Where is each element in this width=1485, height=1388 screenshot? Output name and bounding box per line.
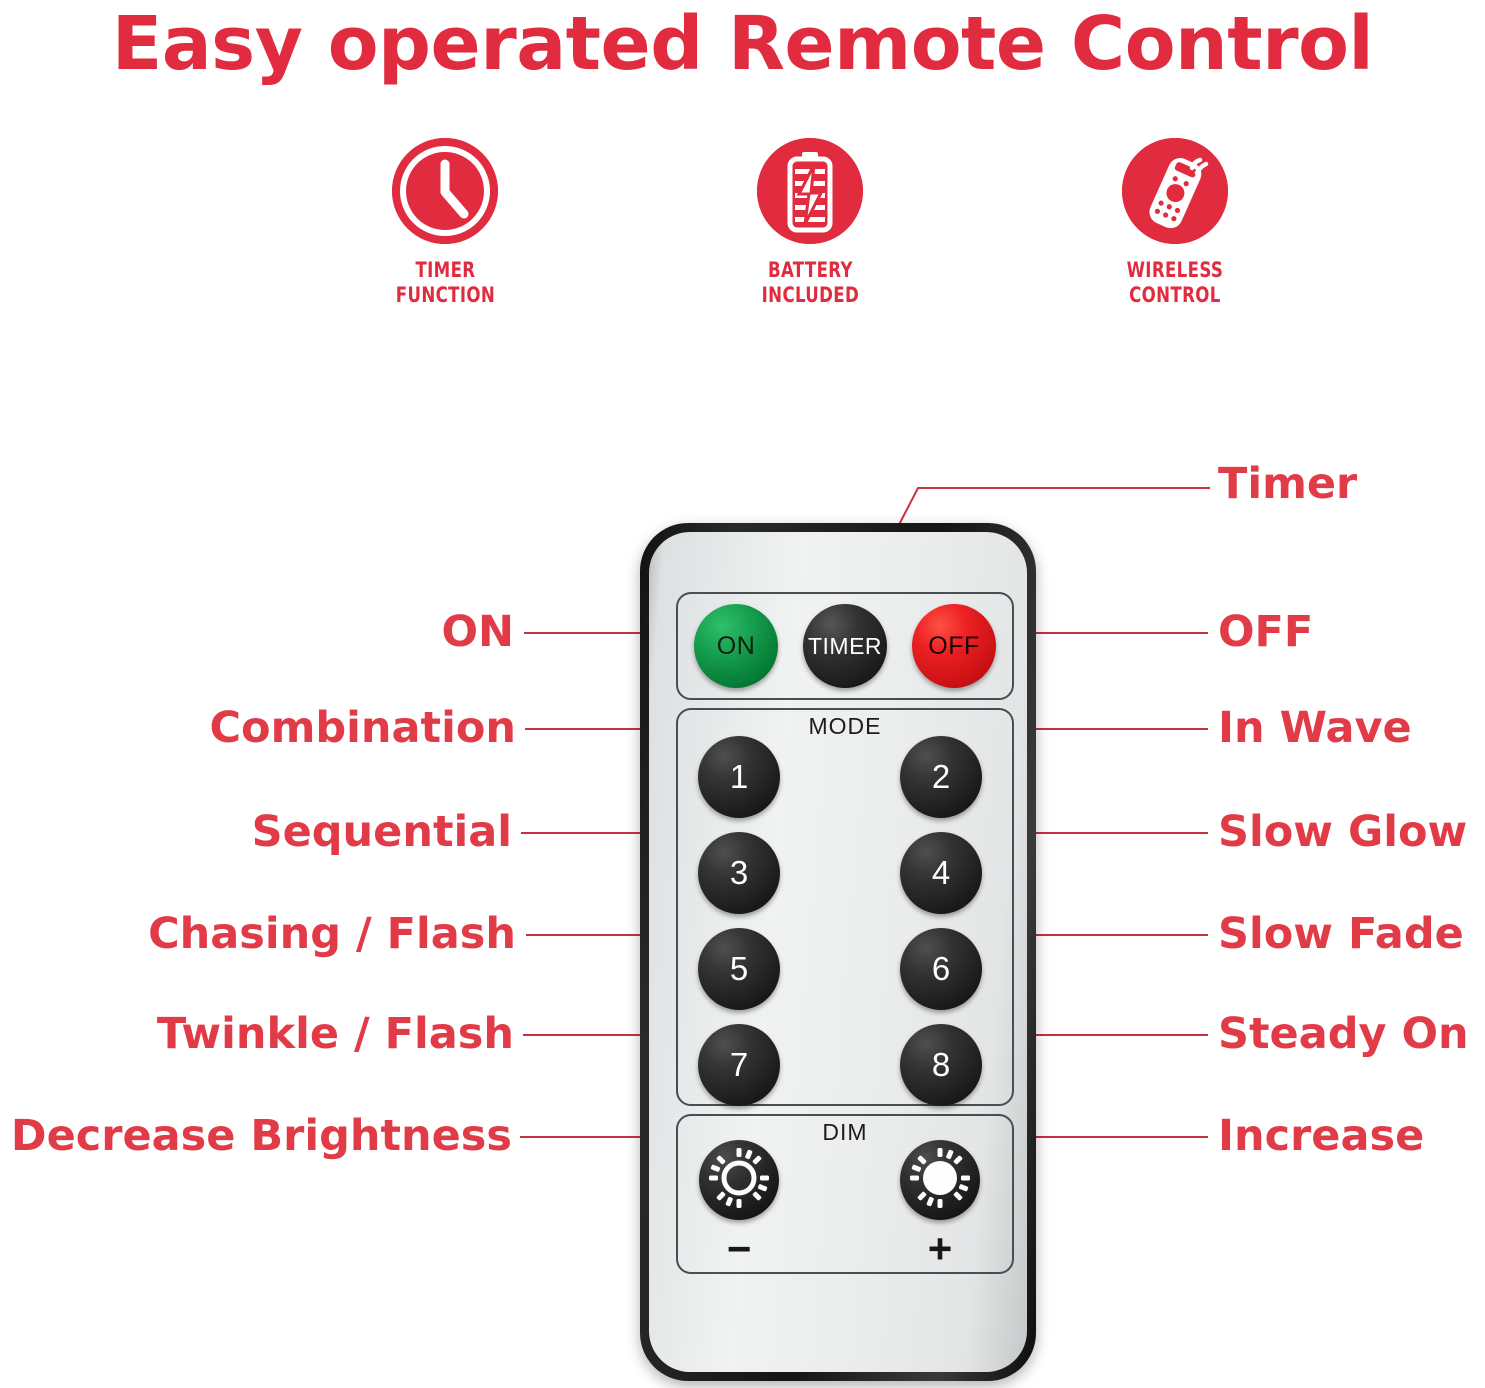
feature-battery: BATTERY INCLUDED	[660, 138, 960, 308]
mode-button-3-label: 3	[730, 854, 748, 892]
feature-wireless-line1: WIRELESS	[1127, 258, 1224, 283]
callout-timer: Timer	[1218, 460, 1357, 508]
feature-wireless-label: WIRELESS CONTROL	[1127, 258, 1224, 308]
dim-minus-button[interactable]	[699, 1140, 779, 1220]
brightness-high-icon	[907, 1145, 973, 1216]
battery-icon	[757, 138, 863, 244]
mode-button-4[interactable]: 4	[900, 832, 982, 914]
dim-plus-sign: +	[898, 1228, 982, 1270]
callout-increase: Increase	[1218, 1112, 1424, 1160]
off-button-label: OFF	[928, 632, 980, 661]
callout-off: OFF	[1218, 608, 1313, 656]
feature-battery-line1: BATTERY	[761, 258, 859, 283]
callout-twinkle-flash: Twinkle / Flash	[110, 1010, 514, 1058]
feature-timer-label: TIMER FUNCTION	[395, 258, 494, 308]
callout-sequential: Sequential	[180, 808, 512, 856]
mode-button-4-label: 4	[932, 854, 950, 892]
mode-button-6[interactable]: 6	[900, 928, 982, 1010]
remote-face: ON TIMER OFF MODE 1 2 3	[649, 532, 1027, 1372]
callout-slow-glow: Slow Glow	[1218, 808, 1467, 856]
callout-slow-fade: Slow Fade	[1218, 910, 1464, 958]
page-title: Easy operated Remote Control	[0, 2, 1485, 86]
callout-combination: Combination	[180, 704, 516, 752]
mode-button-8-label: 8	[932, 1046, 950, 1084]
on-button-label: ON	[717, 632, 756, 661]
feature-battery-line2: INCLUDED	[761, 283, 859, 308]
mode-button-5[interactable]: 5	[698, 928, 780, 1010]
mode-button-6-label: 6	[932, 950, 950, 988]
mode-button-3[interactable]: 3	[698, 832, 780, 914]
mode-button-1-label: 1	[730, 758, 748, 796]
feature-timer: TIMER FUNCTION	[295, 138, 595, 308]
dim-panel: DIM	[676, 1114, 1014, 1274]
mode-button-7[interactable]: 7	[698, 1024, 780, 1106]
timer-button-label: TIMER	[808, 633, 882, 660]
feature-wireless-line2: CONTROL	[1127, 283, 1224, 308]
mode-button-1[interactable]: 1	[698, 736, 780, 818]
feature-timer-line2: FUNCTION	[395, 283, 494, 308]
dim-minus-sign: −	[697, 1228, 781, 1270]
feature-badges: TIMER FUNCTION BATTERY	[295, 138, 1325, 328]
mode-panel-title: MODE	[678, 712, 1012, 740]
remote-control: ON TIMER OFF MODE 1 2 3	[640, 523, 1036, 1381]
callout-steady-on: Steady On	[1218, 1010, 1469, 1058]
callout-on: ON	[180, 608, 514, 656]
control-panel: ON TIMER OFF	[676, 592, 1014, 700]
callout-decrease-brightness: Decrease Brightness	[6, 1112, 512, 1160]
mode-button-2-label: 2	[932, 758, 950, 796]
infographic-page: Easy operated Remote Control TIMER FUNCT…	[0, 0, 1485, 1388]
mode-button-7-label: 7	[730, 1046, 748, 1084]
feature-wireless: WIRELESS CONTROL	[1025, 138, 1325, 308]
remote-icon	[1122, 138, 1228, 244]
feature-timer-line1: TIMER	[395, 258, 494, 283]
callout-in-wave: In Wave	[1218, 704, 1412, 752]
clock-icon	[392, 138, 498, 244]
timer-button[interactable]: TIMER	[803, 604, 887, 688]
mode-button-2[interactable]: 2	[900, 736, 982, 818]
feature-battery-label: BATTERY INCLUDED	[761, 258, 859, 308]
mode-panel: MODE 1 2 3 4 5 6	[676, 708, 1014, 1106]
dim-plus-button[interactable]	[900, 1140, 980, 1220]
off-button[interactable]: OFF	[912, 604, 996, 688]
mode-button-8[interactable]: 8	[900, 1024, 982, 1106]
mode-button-5-label: 5	[730, 950, 748, 988]
callout-chasing-flash: Chasing / Flash	[110, 910, 516, 958]
on-button[interactable]: ON	[694, 604, 778, 688]
brightness-low-icon	[706, 1145, 772, 1216]
